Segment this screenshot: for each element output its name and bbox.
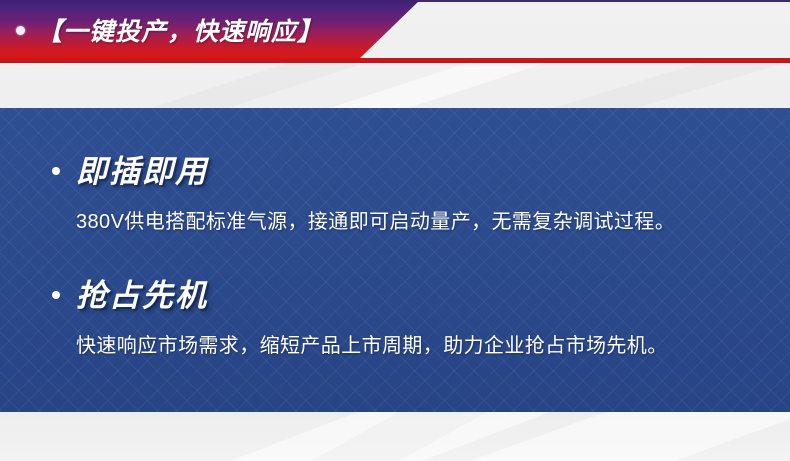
dot-icon: [52, 291, 60, 299]
feature-heading-row: 抢占先机: [0, 270, 790, 315]
feature-item: 抢占先机 快速响应市场需求，缩短产品上市周期，助力企业抢占市场先机。: [0, 270, 790, 358]
feature-heading: 抢占先机: [76, 270, 208, 315]
feature-description: 380V供电搭配标准气源，接通即可启动量产，无需复杂调试过程。: [0, 191, 790, 234]
header-title: 【一键投产，快速响应】: [37, 12, 323, 48]
bottom-strip: [0, 412, 790, 461]
dot-icon: [52, 167, 60, 175]
promo-poster: 【一键投产，快速响应】 即插即用 380V供电搭配标准气源，接通即可启动量产，无…: [0, 0, 790, 461]
header-banner-content: 【一键投产，快速响应】: [0, 12, 323, 48]
feature-list: 即插即用 380V供电搭配标准气源，接通即可启动量产，无需复杂调试过程。 抢占先…: [0, 108, 790, 412]
feature-heading-row: 即插即用: [0, 146, 790, 191]
feature-heading: 即插即用: [76, 146, 208, 191]
header-red-rule: [0, 58, 790, 63]
header-banner: 【一键投产，快速响应】: [0, 0, 420, 60]
feature-item: 即插即用 380V供电搭配标准气源，接通即可启动量产，无需复杂调试过程。: [0, 146, 790, 234]
dot-icon: [16, 26, 25, 35]
feature-description: 快速响应市场需求，缩短产品上市周期，助力企业抢占市场先机。: [0, 315, 790, 358]
